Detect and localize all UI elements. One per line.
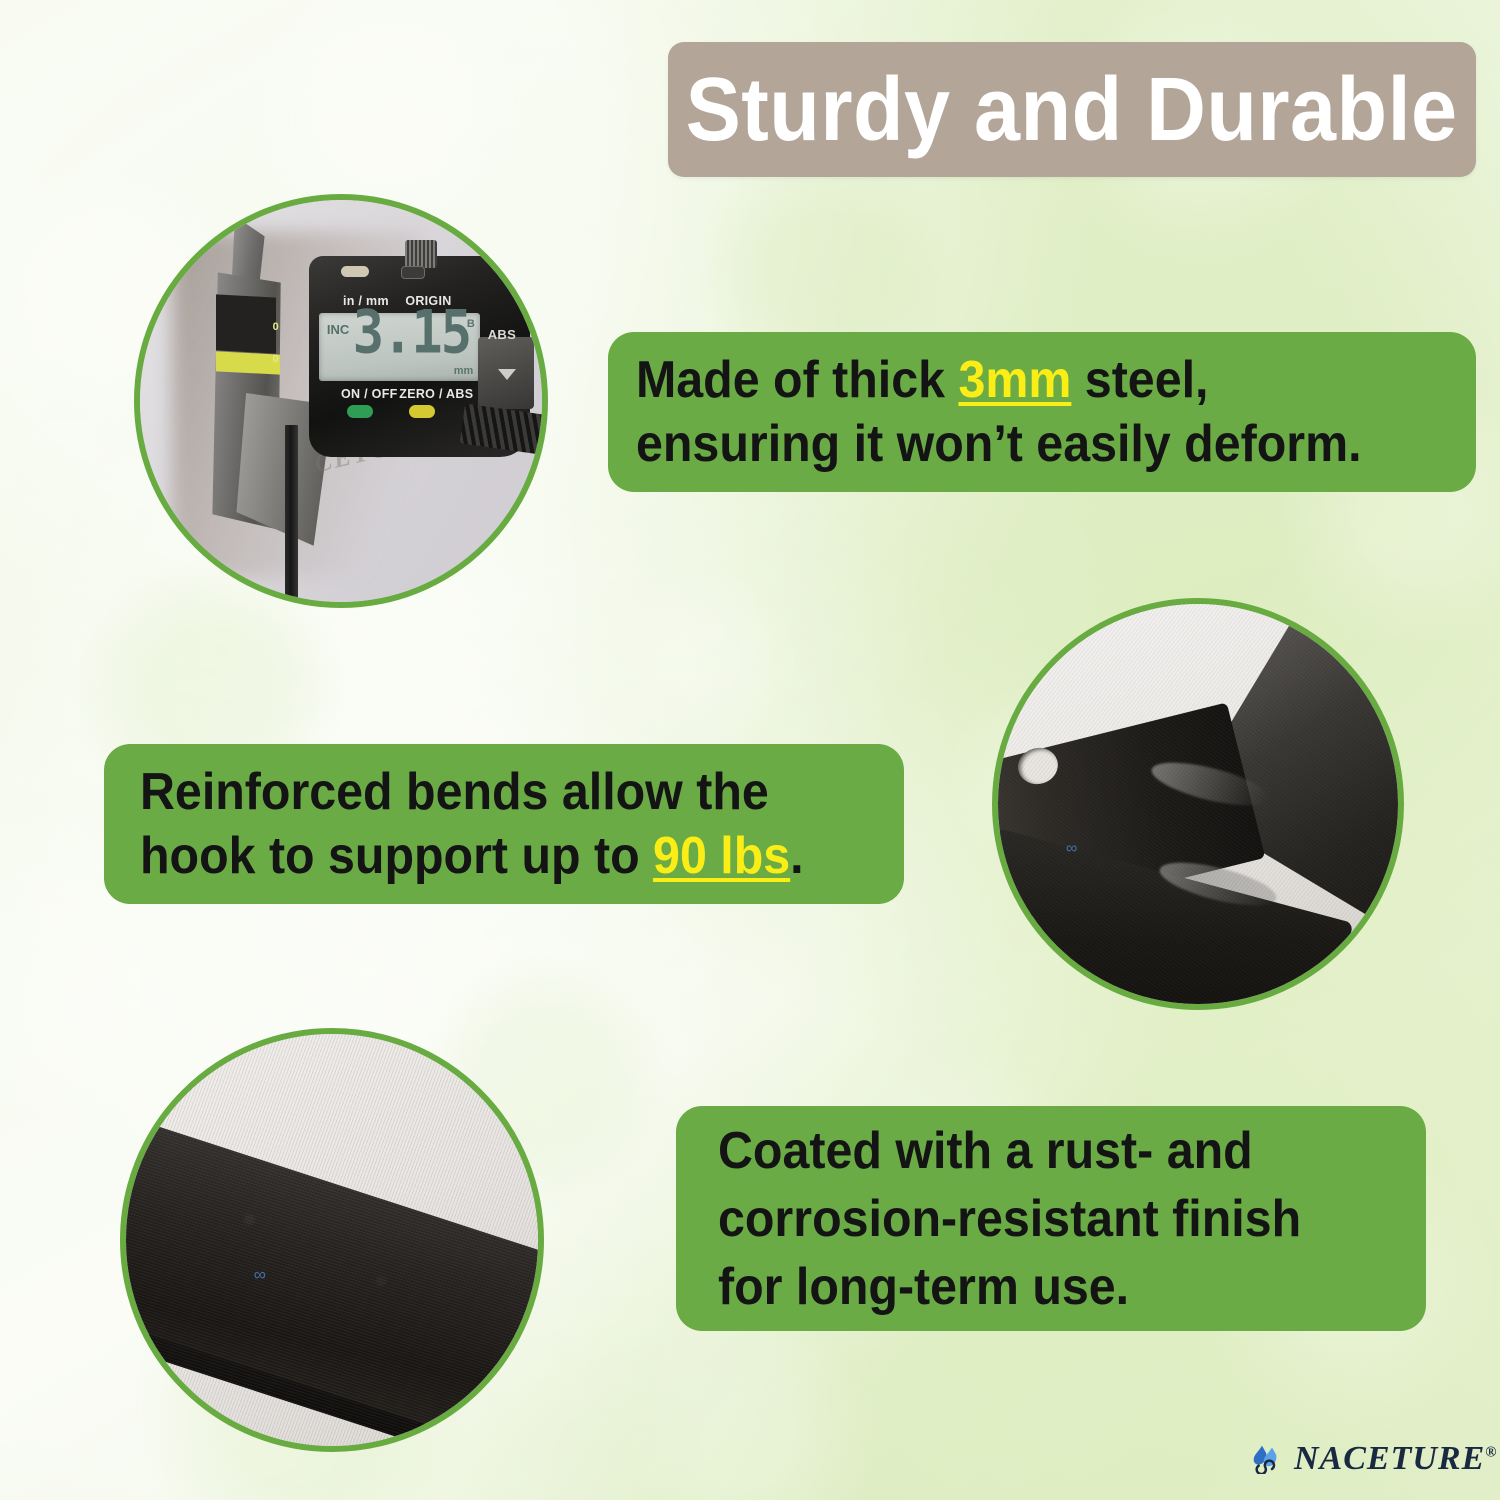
bubble-text-pre: hook to support up to [140,827,653,885]
caliper-side-triangle [498,369,516,380]
coating-scene: ∞ [126,1034,538,1446]
bubble-line: hook to support up to 90 lbs. [140,824,817,888]
bubble-text-post: . [790,827,803,885]
brand-logo: NACETURE® [1250,1440,1497,1478]
caliper-green-button [347,405,373,418]
caliper-label-abs: ABS [488,327,516,342]
feature-bubble-coating: Coated with a rust- and corrosion-resist… [676,1106,1426,1331]
bubble-text-pre: Coated with a rust- and [718,1122,1253,1180]
feature-bubble-load-capacity: Reinforced bends allow the hook to suppo… [104,744,904,904]
caliper-top-button-left [341,266,369,276]
corner-scene: ∞ [998,604,1398,1004]
bubble-line: Made of thick 3mm steel, [636,348,1391,412]
caliper-label-zero-abs: ZERO / ABS [399,387,473,401]
bubble-text-pre: corrosion-resistant finish [718,1190,1301,1248]
bubble-text-pre: for long-term use. [718,1258,1129,1316]
photo-coating-finish: ∞ [120,1028,544,1452]
coating-blue-logo-mark: ∞ [254,1265,266,1285]
bubble-line: ensuring it won’t easily deform. [636,412,1391,476]
bubble-text-pre: Reinforced bends allow the [140,763,769,821]
feature-bubble-thickness: Made of thick 3mm steel, ensuring it won… [608,332,1476,492]
caliper-thumb-wheel [405,240,437,268]
bubble-line: Coated with a rust- and [718,1117,1337,1185]
corner-blue-logo-mark: ∞ [1066,840,1077,858]
caliper-label-on-off: ON / OFF [341,387,398,401]
photo-caliper-measurement: 0 0 ∞ CETURE ® in / mm ORIGIN INC B 3.15… [134,194,548,608]
caliper-top-button-right [401,266,425,278]
infographic-canvas: Sturdy and Durable 0 0 ∞ CETURE ® in / m… [0,0,1500,1500]
caliper-scale-yellow-band [216,351,280,374]
photo-reinforced-corner: ∞ [992,598,1404,1010]
caliper-yellow-button [409,405,435,418]
bubble-highlight: 3mm [958,351,1071,409]
bubble-text-pre: ensuring it won’t easily deform. [636,415,1362,473]
caliper-scene: 0 0 ∞ CETURE ® in / mm ORIGIN INC B 3.15… [140,200,542,602]
bubble-line: Reinforced bends allow the [140,760,817,824]
bubble-text-post: steel, [1071,351,1208,409]
caliper-zero-mark-lower: 0 [273,353,279,365]
caliper-lcd-mode: INC [327,322,349,337]
brand-name-text: NACETURE [1294,1440,1485,1477]
brand-registered-mark: ® [1485,1445,1497,1461]
bubble-line: corrosion-resistant finish [718,1185,1337,1253]
caliper-zero-mark-upper: 0 [273,321,279,333]
caliper-scale-dark-band [216,295,276,354]
bubble-text-pre: Made of thick [636,351,958,409]
brand-name: NACETURE® [1294,1440,1497,1478]
water-droplet-infinity-icon [1250,1444,1284,1474]
steel-specimen [285,425,298,608]
bubble-highlight: 90 lbs [653,827,790,885]
header-banner: Sturdy and Durable [668,42,1476,177]
page-title: Sturdy and Durable [686,65,1458,155]
caliper-lcd-unit: mm [454,365,474,377]
caliper-lcd-reading: 3.15 [353,303,470,363]
bubble-line: for long-term use. [718,1253,1337,1321]
caliper-lcd-screen: INC B 3.15 mm [319,313,480,381]
